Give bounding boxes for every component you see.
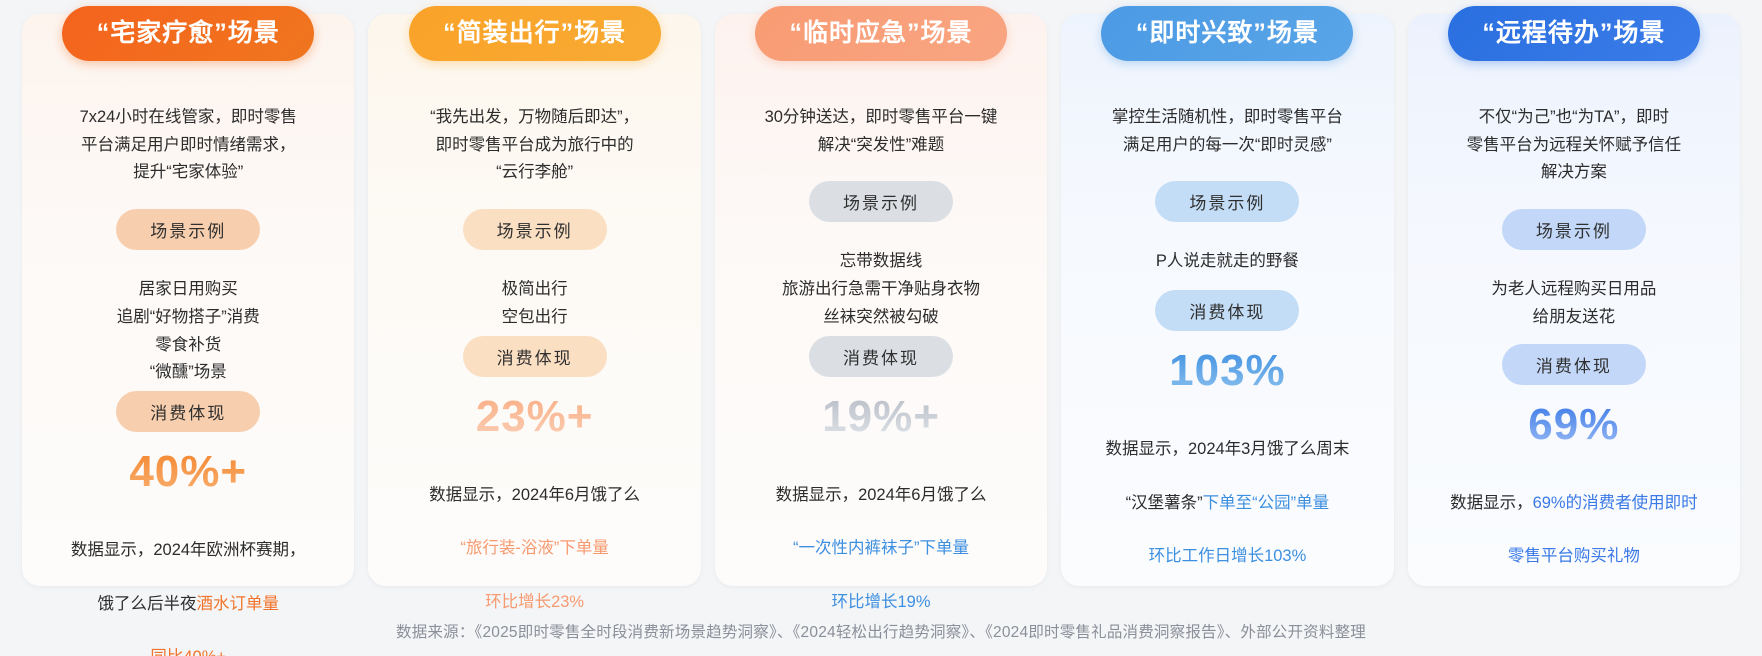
card-example-list: P人说走就走的野餐 xyxy=(1156,248,1299,276)
footnote-line-2-highlight: 酒水订单量 xyxy=(196,595,279,613)
footnote-line-2-highlight: 下单至“公园”单量 xyxy=(1203,494,1330,512)
scenario-card-light-travel[interactable]: “简装出行”场景 “我先出发，万物随后即达”， 即时零售平台成为旅行中的 “云行… xyxy=(368,14,700,586)
metric-value: 40%+ xyxy=(129,448,247,496)
footnote-line-1-highlight: 69%的消费者使用即时 xyxy=(1533,494,1698,512)
footnote-line-2-plain: “汉堡薯条” xyxy=(1126,494,1203,512)
metric-value: 19%+ xyxy=(822,393,940,441)
tag-consumption-metric: 消费体现 xyxy=(1502,344,1646,385)
tag-scenario-example: 场景示例 xyxy=(809,181,953,222)
card-example-list: 居家日用购买 追剧“好物搭子”消费 零食补货 “微醺”场景 xyxy=(117,276,260,387)
card-description: 不仅“为己”也“为TA”，即时 零售平台为远程关怀赋予信任 解决方案 xyxy=(1467,104,1682,187)
metric-value: 23%+ xyxy=(476,393,594,441)
card-example-list: 为老人远程购买日用品 给朋友送花 xyxy=(1491,276,1656,331)
footnote-line-1: 数据显示，2024年6月饿了么 xyxy=(776,486,987,504)
footnote-line-2-highlight: “旅行装-浴液”下单量 xyxy=(460,539,608,557)
tag-consumption-metric: 消费体现 xyxy=(116,391,260,432)
footnote-line-2-highlight: 零售平台购买礼物 xyxy=(1508,547,1640,565)
card-description: “我先出发，万物随后即达”， 即时零售平台成为旅行中的 “云行李舱” xyxy=(430,104,639,187)
footnote-line-1: 数据显示，2024年6月饿了么 xyxy=(429,486,640,504)
card-footnote: 数据显示，69%的消费者使用即时 零售平台购买礼物 xyxy=(1450,463,1698,570)
card-title-badge: “即时兴致”场景 xyxy=(1101,6,1353,61)
tag-scenario-example: 场景示例 xyxy=(116,209,260,250)
footnote-line-3-highlight: 环比工作日增长103% xyxy=(1149,547,1307,565)
card-footnote: 数据显示，2024年6月饿了么 “一次性内裤袜子”下单量 环比增长19% xyxy=(776,455,987,615)
scenario-cards-row: “宅家疗愈”场景 7x24小时在线管家，即时零售 平台满足用户即时情绪需求， 提… xyxy=(0,0,1762,586)
tag-consumption-metric: 消费体现 xyxy=(1155,290,1299,331)
footnote-line-2-plain: 饿了么后半夜 xyxy=(97,595,196,613)
footnote-line-1: 数据显示，2024年3月饿了么周末 xyxy=(1105,440,1349,458)
footnote-line-3-highlight: 环比增长23% xyxy=(485,593,584,611)
metric-value: 69% xyxy=(1528,401,1619,449)
tag-scenario-example: 场景示例 xyxy=(463,209,607,250)
card-footnote: 数据显示，2024年3月饿了么周末 “汉堡薯条”下单至“公园”单量 环比工作日增… xyxy=(1105,410,1349,570)
card-title-badge: “远程待办”场景 xyxy=(1448,6,1700,61)
metric-value: 103% xyxy=(1169,347,1286,395)
tag-scenario-example: 场景示例 xyxy=(1502,209,1646,250)
card-example-list: 极简出行 空包出行 xyxy=(502,276,568,331)
card-title-badge: “临时应急”场景 xyxy=(755,6,1007,61)
card-title-badge: “简装出行”场景 xyxy=(409,6,661,61)
footnote-line-1: 数据显示，2024年欧洲杯赛期， xyxy=(71,541,306,559)
infographic-root: “宅家疗愈”场景 7x24小时在线管家，即时零售 平台满足用户即时情绪需求， 提… xyxy=(0,0,1762,656)
card-footnote: 数据显示，2024年6月饿了么 “旅行装-浴液”下单量 环比增长23% xyxy=(429,455,640,615)
scenario-card-emergency[interactable]: “临时应急”场景 30分钟送达，即时零售平台一键 解决“突发性”难题 场景示例 … xyxy=(715,14,1047,586)
scenario-card-remote-todo[interactable]: “远程待办”场景 不仅“为己”也“为TA”，即时 零售平台为远程关怀赋予信任 解… xyxy=(1408,14,1740,586)
card-description: 30分钟送达，即时零售平台一键 解决“突发性”难题 xyxy=(765,104,998,159)
tag-scenario-example: 场景示例 xyxy=(1155,181,1299,222)
source-note: 数据来源：《2025即时零售全时段消费新场景趋势洞察》、《2024轻松出行趋势洞… xyxy=(0,620,1762,642)
scenario-card-home-healing[interactable]: “宅家疗愈”场景 7x24小时在线管家，即时零售 平台满足用户即时情绪需求， 提… xyxy=(22,14,354,586)
footnote-line-2-highlight: “一次性内裤袜子”下单量 xyxy=(793,539,969,557)
card-description: 7x24小时在线管家，即时零售 平台满足用户即时情绪需求， 提升“宅家体验” xyxy=(80,104,297,187)
tag-consumption-metric: 消费体现 xyxy=(809,336,953,377)
footnote-line-3-highlight: 同比40%+ xyxy=(150,648,226,656)
card-title-badge: “宅家疗愈”场景 xyxy=(62,6,314,61)
card-example-list: 忘带数据线 旅游出行急需干净贴身衣物 丝袜突然被勾破 xyxy=(782,248,980,331)
tag-consumption-metric: 消费体现 xyxy=(463,336,607,377)
footnote-line-3-highlight: 环比增长19% xyxy=(831,593,930,611)
card-description: 掌控生活随机性，即时零售平台 满足用户的每一次“即时灵感” xyxy=(1112,104,1343,159)
scenario-card-instant-mood[interactable]: “即时兴致”场景 掌控生活随机性，即时零售平台 满足用户的每一次“即时灵感” 场… xyxy=(1061,14,1393,586)
footnote-line-1-plain: 数据显示， xyxy=(1450,494,1533,512)
